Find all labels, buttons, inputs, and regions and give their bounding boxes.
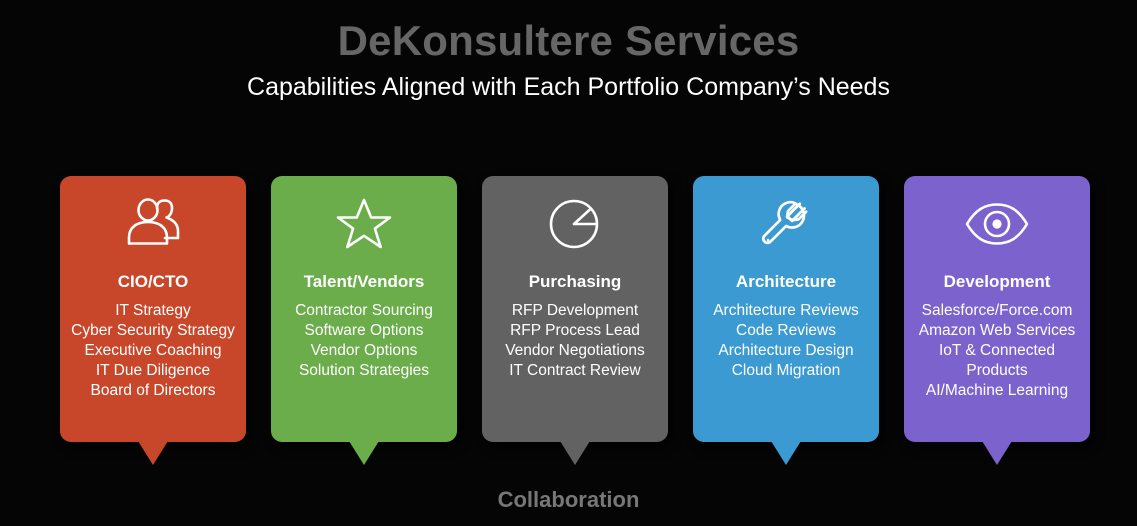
card-item-list: RFP Development RFP Process Lead Vendor … — [488, 301, 662, 380]
two-people-icon — [66, 176, 240, 272]
list-item: Cloud Migration — [699, 361, 873, 381]
card-title: Architecture — [736, 272, 836, 301]
card-title: CIO/CTO — [118, 272, 189, 301]
star-outline-icon — [277, 176, 451, 272]
card-pointer-tail — [771, 441, 801, 465]
page-title: DeKonsultere Services — [0, 0, 1137, 66]
service-card-development[interactable]: Development Salesforce/Force.com Amazon … — [904, 176, 1090, 472]
card-item-list: Contractor Sourcing Software Options Ven… — [277, 301, 451, 380]
pie-chart-icon — [488, 176, 662, 272]
card-body[interactable]: Development Salesforce/Force.com Amazon … — [904, 176, 1090, 442]
card-pointer-tail — [349, 441, 379, 465]
list-item: IT Due Diligence — [66, 361, 240, 381]
card-pointer-tail — [138, 441, 168, 465]
service-card-cio-cto[interactable]: CIO/CTO IT Strategy Cyber Security Strat… — [60, 176, 246, 472]
list-item: Executive Coaching — [66, 341, 240, 361]
list-item: Salesforce/Force.com — [910, 301, 1084, 321]
card-item-list: Salesforce/Force.com Amazon Web Services… — [910, 301, 1084, 400]
list-item: Cyber Security Strategy — [66, 321, 240, 341]
card-pointer-tail — [982, 441, 1012, 465]
service-cards-row: CIO/CTO IT Strategy Cyber Security Strat… — [60, 176, 1090, 472]
service-card-architecture[interactable]: Architecture Architecture Reviews Code R… — [693, 176, 879, 472]
list-item: Architecture Reviews — [699, 301, 873, 321]
list-item: IoT & Connected Products — [910, 341, 1084, 381]
list-item: Code Reviews — [699, 321, 873, 341]
page-subtitle: Capabilities Aligned with Each Portfolio… — [0, 66, 1137, 102]
infographic-canvas: DeKonsultere Services Capabilities Align… — [0, 0, 1137, 526]
card-body[interactable]: Talent/Vendors Contractor Sourcing Softw… — [271, 176, 457, 442]
service-card-talent-vendors[interactable]: Talent/Vendors Contractor Sourcing Softw… — [271, 176, 457, 472]
wrench-icon — [699, 176, 873, 272]
list-item: IT Strategy — [66, 301, 240, 321]
list-item: Vendor Options — [277, 341, 451, 361]
list-item: AI/Machine Learning — [910, 381, 1084, 401]
card-body[interactable]: CIO/CTO IT Strategy Cyber Security Strat… — [60, 176, 246, 442]
list-item: Software Options — [277, 321, 451, 341]
collaboration-label: Collaboration — [498, 487, 640, 512]
card-title: Talent/Vendors — [304, 272, 425, 301]
card-pointer-tail — [560, 441, 590, 465]
service-card-purchasing[interactable]: Purchasing RFP Development RFP Process L… — [482, 176, 668, 472]
list-item: Solution Strategies — [277, 361, 451, 381]
list-item: Architecture Design — [699, 341, 873, 361]
list-item: Board of Directors — [66, 381, 240, 401]
card-item-list: IT Strategy Cyber Security Strategy Exec… — [66, 301, 240, 400]
list-item: IT Contract Review — [488, 361, 662, 381]
list-item: Vendor Negotiations — [488, 341, 662, 361]
list-item: RFP Process Lead — [488, 321, 662, 341]
list-item: Amazon Web Services — [910, 321, 1084, 341]
card-body[interactable]: Architecture Architecture Reviews Code R… — [693, 176, 879, 442]
card-body[interactable]: Purchasing RFP Development RFP Process L… — [482, 176, 668, 442]
list-item: Contractor Sourcing — [277, 301, 451, 321]
header: DeKonsultere Services Capabilities Align… — [0, 0, 1137, 102]
card-title: Development — [944, 272, 1051, 301]
card-item-list: Architecture Reviews Code Reviews Archit… — [699, 301, 873, 380]
list-item: RFP Development — [488, 301, 662, 321]
eye-icon — [910, 176, 1084, 272]
card-title: Purchasing — [529, 272, 622, 301]
footer: Collaboration — [0, 488, 1137, 512]
